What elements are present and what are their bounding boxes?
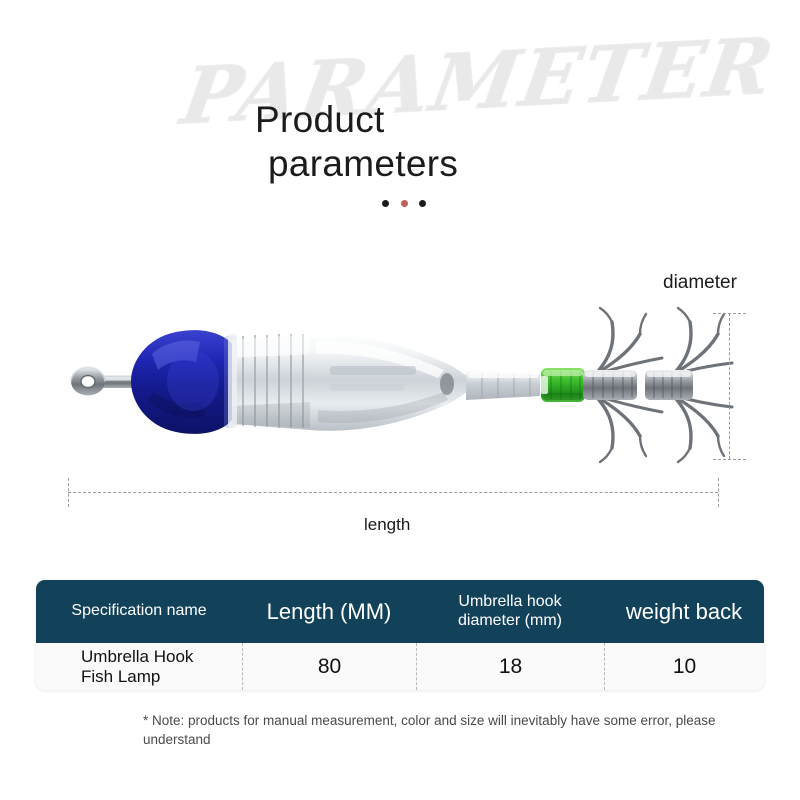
dot-accent-icon <box>401 200 408 207</box>
dot-icon <box>382 200 389 207</box>
diameter-cap-top <box>713 313 746 314</box>
hook-hub-2 <box>645 370 693 400</box>
cell-specification-name: Umbrella HookFish Lamp <box>36 643 242 690</box>
length-cap-right <box>718 478 719 507</box>
decorative-dot-row <box>382 200 426 207</box>
product-illustration <box>0 250 800 550</box>
clear-body-group <box>310 334 470 431</box>
led-head-group <box>131 330 236 434</box>
diameter-dimension-line <box>729 313 730 459</box>
specification-table: Specification name Length (MM) Umbrella … <box>36 580 764 690</box>
length-dimension-label: length <box>364 515 410 535</box>
table-header-length: Length (MM) <box>242 580 416 643</box>
measurement-note: * Note: products for manual measurement,… <box>143 712 743 749</box>
page-title-line-1: Product <box>255 98 655 142</box>
page-title-line-2: parameters <box>255 142 655 186</box>
cell-weight-back: 10 <box>604 643 764 690</box>
diameter-dimension-label: diameter <box>663 272 737 294</box>
ribbed-collar-group <box>228 334 310 430</box>
hook-hub-1 <box>583 370 637 400</box>
diameter-cap-bottom <box>713 459 746 460</box>
table-header-specification-name: Specification name <box>36 580 242 643</box>
shaft-group <box>466 370 540 400</box>
page-title: Product parameters <box>255 98 655 186</box>
length-dimension-line <box>68 492 718 493</box>
table-header-umbrella-hook-diameter: Umbrella hookdiameter (mm) <box>416 580 604 643</box>
dot-icon <box>419 200 426 207</box>
table-header-weight-back: weight back <box>604 580 764 643</box>
product-image-area: diameter length <box>0 250 800 550</box>
table-header-row: Specification name Length (MM) Umbrella … <box>36 580 764 643</box>
cell-length: 80 <box>242 643 416 690</box>
eyelet-group <box>71 368 137 396</box>
length-cap-left <box>68 478 69 507</box>
cell-umbrella-hook-diameter: 18 <box>416 643 604 690</box>
green-collar-group <box>541 368 585 402</box>
page-header: PARAMETER Product parameters <box>0 0 800 240</box>
table-row: Umbrella HookFish Lamp 80 18 10 <box>36 643 764 690</box>
